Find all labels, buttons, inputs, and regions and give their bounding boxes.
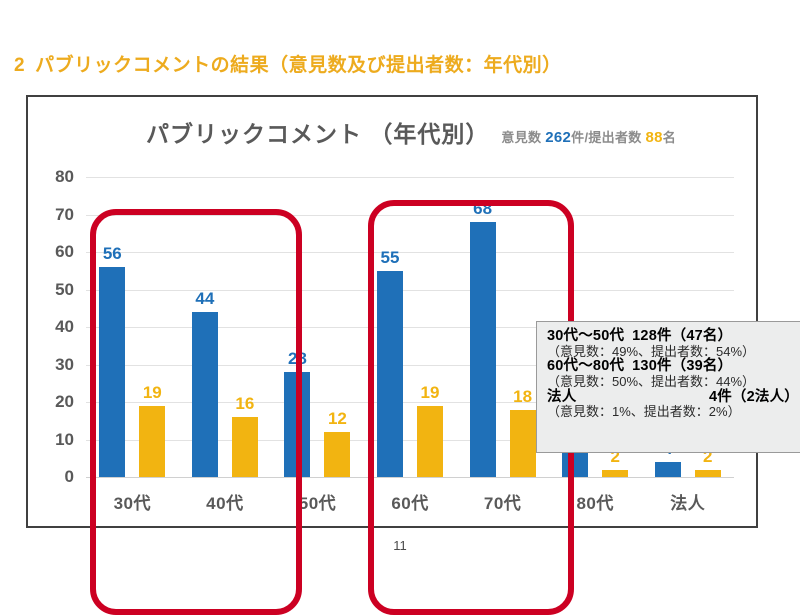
bar-rect [99, 267, 125, 477]
bar-rect [470, 222, 496, 477]
bar-法人-意見数[interactable]: 4 [655, 462, 681, 477]
bar-rect [510, 410, 536, 478]
callout-row-label: 60代～80代 [547, 359, 624, 375]
y-tick-20: 20 [55, 392, 74, 412]
bars: 6818 [456, 177, 549, 477]
x-label-50代: 50代 [271, 489, 364, 514]
y-tick-30: 30 [55, 355, 74, 375]
y-tick-50: 50 [55, 280, 74, 300]
summary-callout: 30代～50代128件（47名）（意見数：49%、提出者数：54%）60代～80… [536, 321, 800, 453]
bar-60代-意見数[interactable]: 55 [377, 271, 403, 477]
bar-rect [284, 372, 310, 477]
chart-subtitle-prefix: 意見数 [501, 130, 541, 145]
chart-title: パブリックコメント （年代別） [146, 115, 489, 149]
bar-rect [139, 406, 165, 477]
chart-subtitle-comment-count: 262 [545, 129, 571, 146]
bar-group-50代: 2812 [271, 177, 364, 477]
chart-subtitle-suffix: 名 [663, 130, 676, 145]
bar-group-40代: 4416 [179, 177, 272, 477]
bar-rect [417, 406, 443, 477]
slide-heading: 2パブリックコメントの結果（意見数及び提出者数：年代別） [14, 50, 562, 77]
callout-row-label: 30代～50代 [547, 329, 624, 345]
callout-row-detail-3: （意見数：1%、提出者数：2%） [547, 405, 799, 419]
bar-value-label: 19 [143, 383, 162, 403]
slide-heading-text: パブリックコメントの結果（意見数及び提出者数：年代別） [35, 55, 562, 76]
bar-rect [695, 470, 721, 478]
y-tick-80: 80 [55, 167, 74, 187]
gridline-0 [86, 477, 734, 478]
bars: 5619 [86, 177, 179, 477]
x-label-30代: 30代 [86, 489, 179, 514]
slide-heading-number: 2 [14, 55, 25, 76]
y-tick-40: 40 [55, 317, 74, 337]
chart-subtitle-middle: 件/提出者数 [571, 130, 641, 145]
bar-value-label: 18 [513, 387, 532, 407]
chart-subtitle-people-count: 88 [646, 129, 663, 146]
bar-rect [377, 271, 403, 477]
bar-value-label: 55 [381, 248, 400, 268]
bar-70代-提出者数[interactable]: 18 [510, 410, 536, 478]
bar-value-label: 28 [288, 349, 307, 369]
bar-rect [192, 312, 218, 477]
callout-row-head-3: 法人4件（2法人） [547, 390, 799, 406]
chart-container: パブリックコメント （年代別） 意見数 262件/提出者数 88名 807060… [26, 95, 758, 528]
x-label-70代: 70代 [456, 489, 549, 514]
bar-value-label: 56 [103, 244, 122, 264]
bar-value-label: 16 [235, 394, 254, 414]
bar-70代-意見数[interactable]: 68 [470, 222, 496, 477]
y-tick-10: 10 [55, 430, 74, 450]
bar-rect [324, 432, 350, 477]
x-label-法人: 法人 [641, 489, 734, 514]
callout-row-value: 130件（39名） [632, 359, 732, 375]
x-axis-labels: 30代40代50代60代70代80代法人 [86, 489, 734, 514]
bar-40代-意見数[interactable]: 44 [192, 312, 218, 477]
bars: 4416 [179, 177, 272, 477]
bar-rect [602, 470, 628, 478]
chart-subtitle: 意見数 262件/提出者数 88名 [501, 127, 676, 146]
bar-rect [655, 462, 681, 477]
callout-row-value: 4件（2法人） [709, 390, 799, 406]
bar-rect [232, 417, 258, 477]
bar-40代-提出者数[interactable]: 16 [232, 417, 258, 477]
bar-50代-提出者数[interactable]: 12 [324, 432, 350, 477]
bar-rect [562, 451, 588, 477]
y-tick-60: 60 [55, 242, 74, 262]
bar-value-label: 12 [328, 409, 347, 429]
bar-80代-提出者数[interactable]: 2 [602, 470, 628, 478]
callout-row-detail-1: （意見数：49%、提出者数：54%） [547, 345, 799, 359]
x-label-60代: 60代 [364, 489, 457, 514]
bars: 2812 [271, 177, 364, 477]
y-tick-70: 70 [55, 205, 74, 225]
y-tick-0: 0 [65, 467, 74, 487]
bar-value-label: 19 [421, 383, 440, 403]
callout-row-detail-2: （意見数：50%、提出者数：44%） [547, 375, 799, 389]
bar-value-label: 44 [195, 289, 214, 309]
bars: 5519 [364, 177, 457, 477]
chart-title-row: パブリックコメント （年代別） 意見数 262件/提出者数 88名 [146, 115, 676, 149]
callout-row-value: 128件（47名） [632, 329, 732, 345]
bar-value-label: 68 [473, 199, 492, 219]
bar-80代-意見数[interactable]: 7 [562, 451, 588, 477]
callout-row-head-2: 60代～80代130件（39名） [547, 359, 799, 375]
bar-50代-意見数[interactable]: 28 [284, 372, 310, 477]
callout-row-label: 法人 [547, 390, 576, 406]
bar-group-70代: 6818 [456, 177, 549, 477]
bar-30代-提出者数[interactable]: 19 [139, 406, 165, 477]
page-number: 11 [0, 538, 800, 553]
callout-row-head-1: 30代～50代128件（47名） [547, 329, 799, 345]
bar-30代-意見数[interactable]: 56 [99, 267, 125, 477]
x-label-80代: 80代 [549, 489, 642, 514]
bar-60代-提出者数[interactable]: 19 [417, 406, 443, 477]
x-label-40代: 40代 [179, 489, 272, 514]
bar-group-60代: 5519 [364, 177, 457, 477]
bar-group-30代: 5619 [86, 177, 179, 477]
bar-法人-提出者数[interactable]: 2 [695, 470, 721, 478]
